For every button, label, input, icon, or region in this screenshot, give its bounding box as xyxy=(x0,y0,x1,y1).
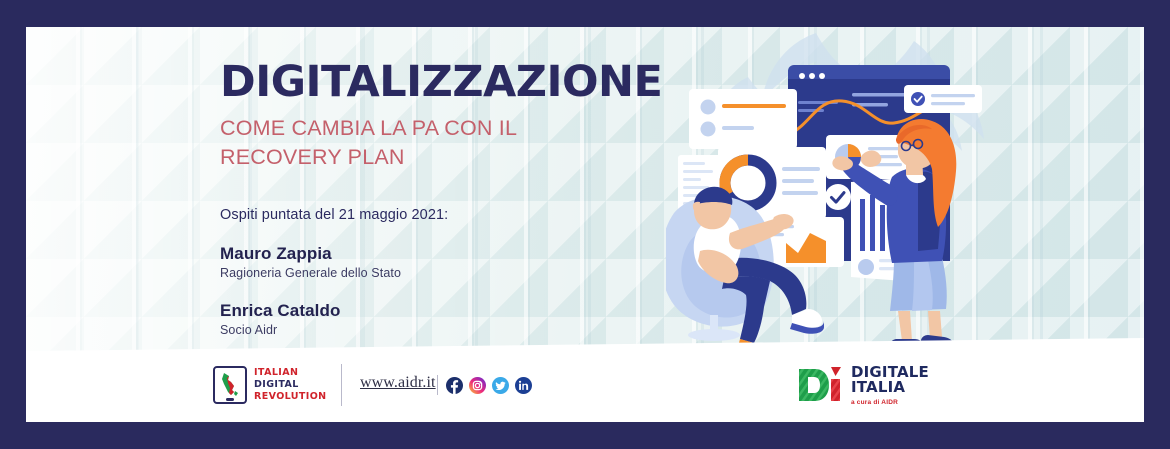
footer-divider-2 xyxy=(437,375,438,395)
facebook-icon[interactable] xyxy=(446,377,463,394)
data-dashboard-people-illustration xyxy=(666,27,1010,357)
page-subtitle: COME CAMBIA LA PA CON IL RECOVERY PLAN xyxy=(220,114,690,171)
tablet-home-button xyxy=(226,398,234,401)
guest-item: Enrica Cataldo Socio Aidr xyxy=(220,301,690,337)
badge-check xyxy=(825,184,851,210)
guest-item: Mauro Zappia Ragioneria Generale dello S… xyxy=(220,244,690,280)
page-title: DIGITALIZZAZIONE xyxy=(220,60,690,105)
linkedin-icon[interactable] xyxy=(515,377,532,394)
card-profile xyxy=(689,89,797,149)
subtitle-line-1: COME CAMBIA LA PA CON IL xyxy=(220,114,690,143)
twitter-icon[interactable] xyxy=(492,377,509,394)
banner-root: DIGITALIZZAZIONE COME CAMBIA LA PA CON I… xyxy=(0,0,1170,449)
aidr-line-2: DIGITAL xyxy=(254,379,327,391)
guest-role: Socio Aidr xyxy=(220,323,690,337)
italy-map-icon xyxy=(218,371,242,399)
guest-role: Ragioneria Generale dello Stato xyxy=(220,266,690,280)
subtitle-line-2: RECOVERY PLAN xyxy=(220,143,690,172)
guest-name: Mauro Zappia xyxy=(220,244,690,264)
di-credit-brand: AIDR xyxy=(881,399,898,406)
guests-label: Ospiti puntata del 21 maggio 2021: xyxy=(220,207,690,223)
aidr-logo[interactable]: ITALIAN DIGITAL REVOLUTION xyxy=(213,366,327,404)
digitale-italia-wordmark: DIGITALE ITALIA a cura di AIDR xyxy=(851,365,929,407)
digitale-italia-logo[interactable]: DIGITALE ITALIA a cura di AIDR xyxy=(797,365,929,407)
italy-map-tablet-icon xyxy=(213,366,247,404)
footer: ITALIAN DIGITAL REVOLUTION www.aidr.it xyxy=(26,348,1144,422)
headline-block: DIGITALIZZAZIONE COME CAMBIA LA PA CON I… xyxy=(220,60,690,337)
aidr-line-3: REVOLUTION xyxy=(254,391,327,403)
di-credit-text: a cura di xyxy=(851,399,880,406)
di-line-2: ITALIA xyxy=(851,380,929,396)
banner-stage: DIGITALIZZAZIONE COME CAMBIA LA PA CON I… xyxy=(26,27,1144,422)
footer-divider xyxy=(341,364,342,406)
di-credit: a cura di AIDR xyxy=(851,399,929,406)
social-links xyxy=(446,377,532,394)
card-check-top xyxy=(904,85,982,113)
aidr-line-1: ITALIAN xyxy=(254,367,327,379)
digitale-italia-mark-icon xyxy=(797,365,843,405)
aidr-wordmark: ITALIAN DIGITAL REVOLUTION xyxy=(254,367,327,402)
instagram-icon[interactable] xyxy=(469,377,486,394)
website-link[interactable]: www.aidr.it xyxy=(360,374,436,392)
guest-name: Enrica Cataldo xyxy=(220,301,690,321)
